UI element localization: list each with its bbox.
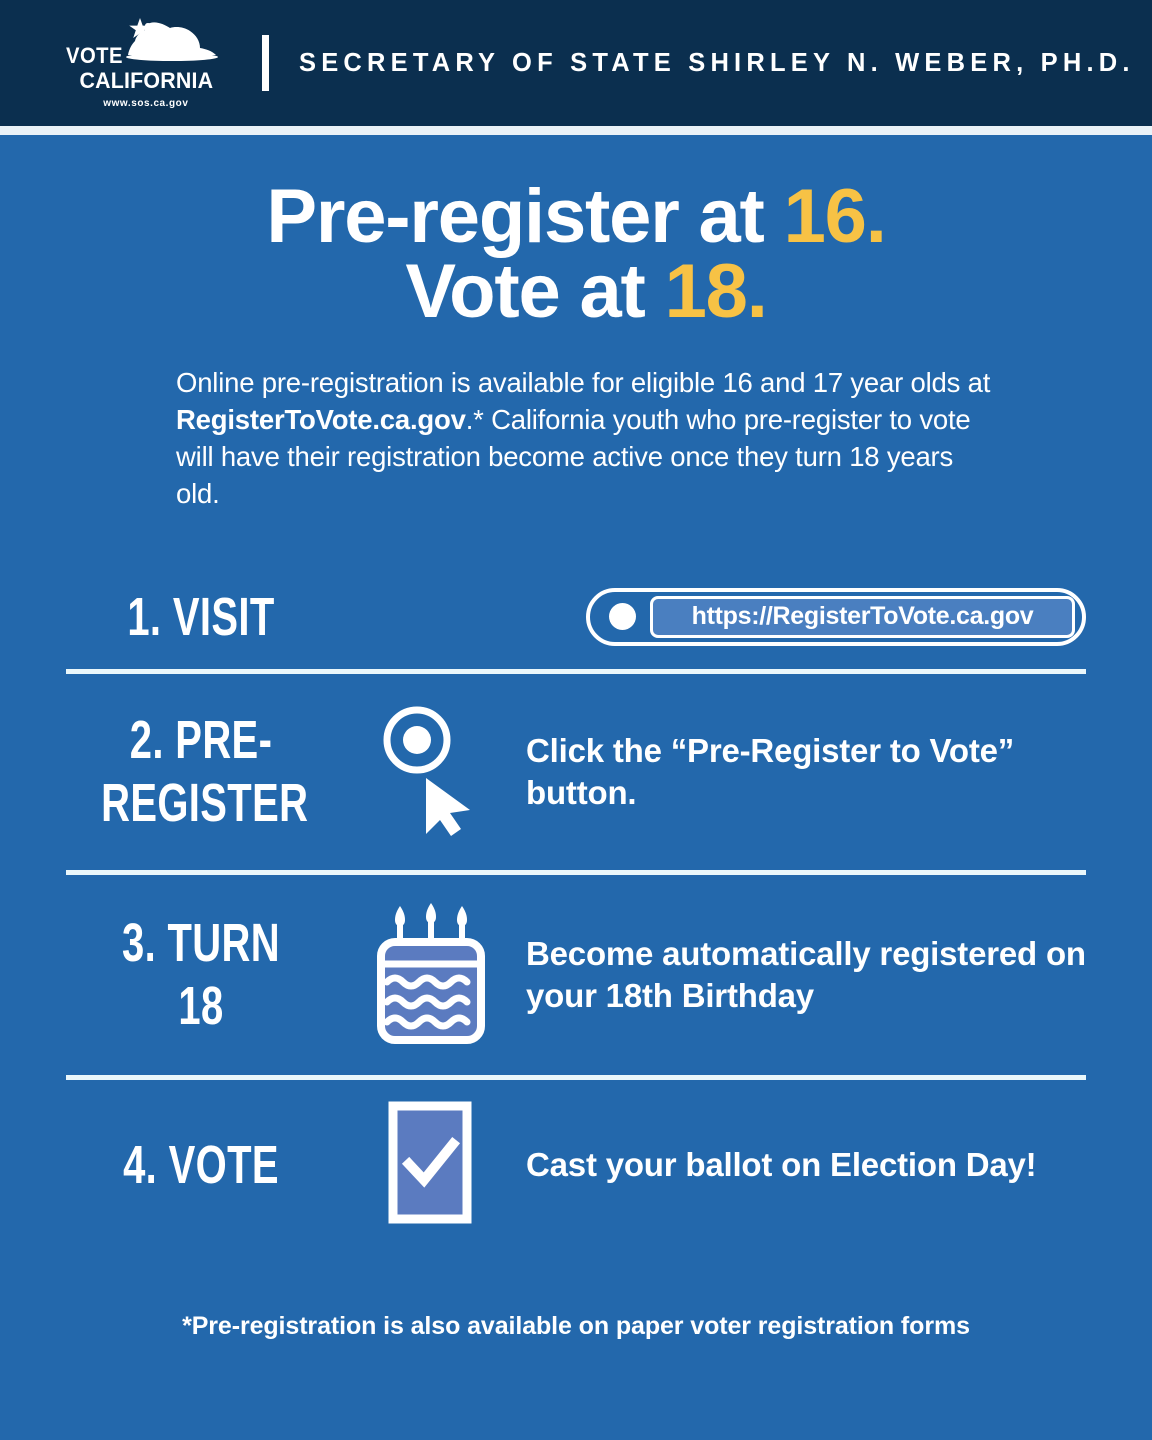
step-2-description: Click the “Pre-Register to Vote” button. xyxy=(526,730,1086,814)
headline-line-2: Vote at 18. xyxy=(0,254,1152,329)
logo-vote-label: VOTE xyxy=(66,43,123,69)
logo-url-label: www.sos.ca.gov xyxy=(103,97,188,109)
page-title: Pre-register at 16. Vote at 18. xyxy=(0,135,1152,329)
headline-line-1-accent: 16. xyxy=(784,174,886,259)
intro-link-registertovote[interactable]: RegisterToVote.ca.gov xyxy=(176,404,466,435)
step-3-label: 3. TURN 18 xyxy=(101,912,301,1037)
step-3-description: Become automatically registered on your … xyxy=(526,933,1086,1017)
browser-dot-icon xyxy=(609,603,636,630)
step-1-icon-area: https://RegisterToVote.ca.gov xyxy=(336,588,1086,646)
steps-list: 1. VISIT https://RegisterToVote.ca.gov 2… xyxy=(0,565,1152,1250)
step-3-icon-area xyxy=(336,898,526,1051)
step-2-icon-area xyxy=(336,702,526,842)
ballot-checkmark-icon xyxy=(381,1100,481,1230)
secretary-of-state-title: SECRETARY OF STATE SHIRLEY N. WEBER, PH.… xyxy=(299,49,1135,78)
step-4-description: Cast your ballot on Election Day! xyxy=(526,1144,1086,1186)
vote-california-logo[interactable]: VOTE CALIFORNIA www.sos.ca.gov xyxy=(66,17,226,110)
header-vertical-divider xyxy=(262,35,269,91)
url-input-field[interactable]: https://RegisterToVote.ca.gov xyxy=(650,596,1075,638)
step-1-label: 1. VISIT xyxy=(101,586,301,649)
poster: VOTE CALIFORNIA www.sos.ca.gov SE xyxy=(0,0,1152,1440)
logo-graphic-row: VOTE xyxy=(66,17,226,69)
headline-line-1-main: Pre-register at xyxy=(266,174,783,259)
step-2-label: 2. PRE- REGISTER xyxy=(101,709,301,834)
url-value: https://RegisterToVote.ca.gov xyxy=(692,602,1034,631)
intro-paragraph: Online pre-registration is available for… xyxy=(176,365,994,512)
birthday-cake-icon xyxy=(367,898,495,1051)
step-4-vote: 4. VOTE Cast your ballot on Election Day… xyxy=(0,1080,1152,1250)
header-bottom-rule xyxy=(0,126,1152,135)
headline-line-2-accent: 18. xyxy=(665,249,767,334)
radio-button-cursor-icon xyxy=(371,702,491,842)
intro-text-part-1: Online pre-registration is available for… xyxy=(176,367,990,398)
headline-line-1: Pre-register at 16. xyxy=(0,179,1152,254)
step-3-turn-18: 3. TURN 18 xyxy=(0,875,1152,1075)
headline-line-2-main: Vote at xyxy=(405,249,664,334)
step-4-icon-area xyxy=(336,1100,526,1230)
browser-url-bar-icon[interactable]: https://RegisterToVote.ca.gov xyxy=(586,588,1086,646)
step-1-visit: 1. VISIT https://RegisterToVote.ca.gov xyxy=(0,565,1152,669)
step-4-label: 4. VOTE xyxy=(101,1134,301,1197)
poster-body: Pre-register at 16. Vote at 18. Online p… xyxy=(0,135,1152,1341)
step-2-pre-register: 2. PRE- REGISTER Click the “Pre-Register… xyxy=(0,674,1152,870)
footnote-text: *Pre-registration is also available on p… xyxy=(0,1312,1152,1341)
page-header: VOTE CALIFORNIA www.sos.ca.gov SE xyxy=(0,0,1152,126)
california-bear-icon xyxy=(120,15,224,66)
logo-california-label: CALIFORNIA xyxy=(79,70,213,93)
